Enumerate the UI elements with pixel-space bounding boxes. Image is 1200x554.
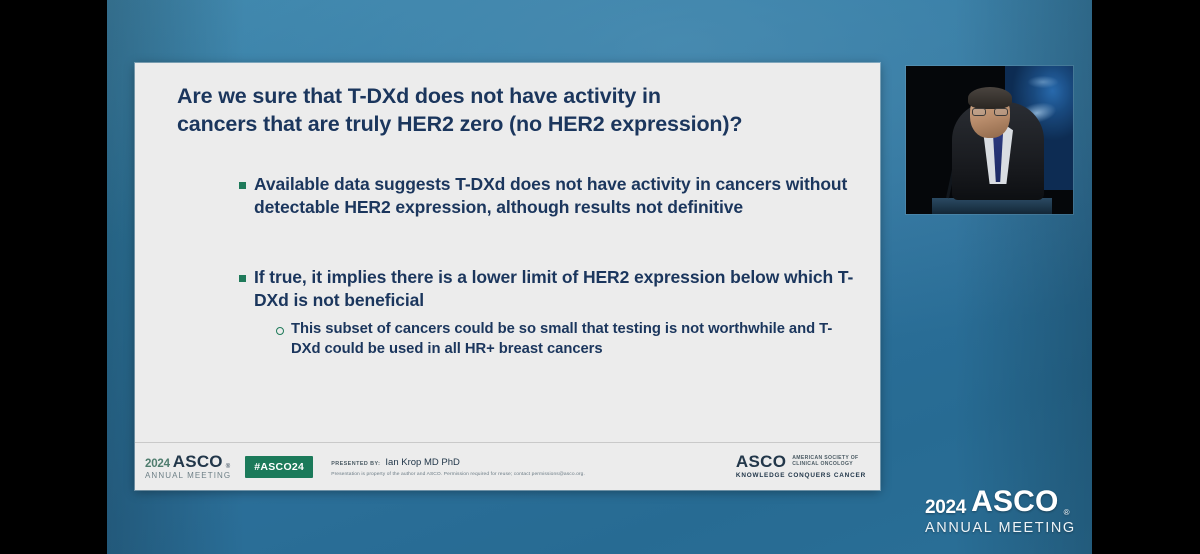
- slide-body: Available data suggests T-DXd does not h…: [181, 173, 861, 359]
- bullet-item: If true, it implies there is a lower lim…: [239, 266, 861, 313]
- watermark-asco-wordmark: ASCO: [971, 487, 1058, 517]
- presented-by-block: PRESENTED BY: Ian Krop MD PhD Presentati…: [331, 457, 585, 477]
- glasses-icon: [972, 108, 1008, 116]
- bullet-text: If true, it implies there is a lower lim…: [254, 266, 861, 313]
- square-bullet-icon: [239, 182, 246, 189]
- logo-year: 2024: [145, 459, 170, 471]
- hashtag-badge: #ASCO24: [245, 456, 313, 478]
- bullet-item: Available data suggests T-DXd does not h…: [239, 173, 861, 220]
- sub-bullet-item: This subset of cancers could be so small…: [276, 320, 861, 359]
- watermark-year: 2024: [925, 498, 966, 517]
- podium: [932, 198, 1052, 214]
- logo-asco-wordmark: ASCO: [173, 453, 223, 470]
- letterbox-left: [0, 0, 107, 554]
- presenter-name: Ian Krop MD PhD: [385, 457, 459, 468]
- bullet-text: Available data suggests T-DXd does not h…: [254, 173, 861, 220]
- trademark-icon: ®: [226, 464, 230, 470]
- asco-annual-meeting-logo: 2024 ASCO ® ANNUAL MEETING: [145, 453, 231, 480]
- watermark-annual-meeting: ANNUAL MEETING: [925, 521, 1076, 536]
- society-line-2: CLINICAL ONCOLOGY: [792, 462, 858, 467]
- copyright-fine-print: Presentation is property of the author a…: [331, 472, 585, 477]
- society-tagline: KNOWLEDGE CONQUERS CANCER: [736, 473, 866, 479]
- sub-bullet-text: This subset of cancers could be so small…: [291, 320, 861, 359]
- society-asco-wordmark: ASCO: [736, 453, 786, 470]
- trademark-icon: ®: [1064, 509, 1070, 517]
- square-bullet-icon: [239, 275, 246, 282]
- slide-title-line-1: Are we sure that T-DXd does not have act…: [177, 84, 661, 108]
- logo-annual-meeting: ANNUAL MEETING: [145, 472, 231, 480]
- presentation-slide[interactable]: Are we sure that T-DXd does not have act…: [135, 63, 880, 490]
- speaker-hair: [968, 87, 1012, 109]
- slide-title: Are we sure that T-DXd does not have act…: [177, 83, 847, 138]
- slide-title-line-2: cancers that are truly HER2 zero (no HER…: [177, 112, 742, 136]
- letterbox-right: [1092, 0, 1200, 554]
- webcast-stage: Are we sure that T-DXd does not have act…: [0, 0, 1200, 554]
- slide-footer: 2024 ASCO ® ANNUAL MEETING #ASCO24 PRESE…: [135, 442, 880, 490]
- presented-by-label: PRESENTED BY:: [331, 461, 380, 467]
- asco-watermark: 2024 ASCO ® ANNUAL MEETING: [925, 487, 1076, 536]
- circle-bullet-icon: [276, 327, 284, 335]
- asco-society-logo: ASCO AMERICAN SOCIETY OF CLINICAL ONCOLO…: [736, 453, 866, 479]
- speaker-video-thumbnail[interactable]: [906, 66, 1073, 214]
